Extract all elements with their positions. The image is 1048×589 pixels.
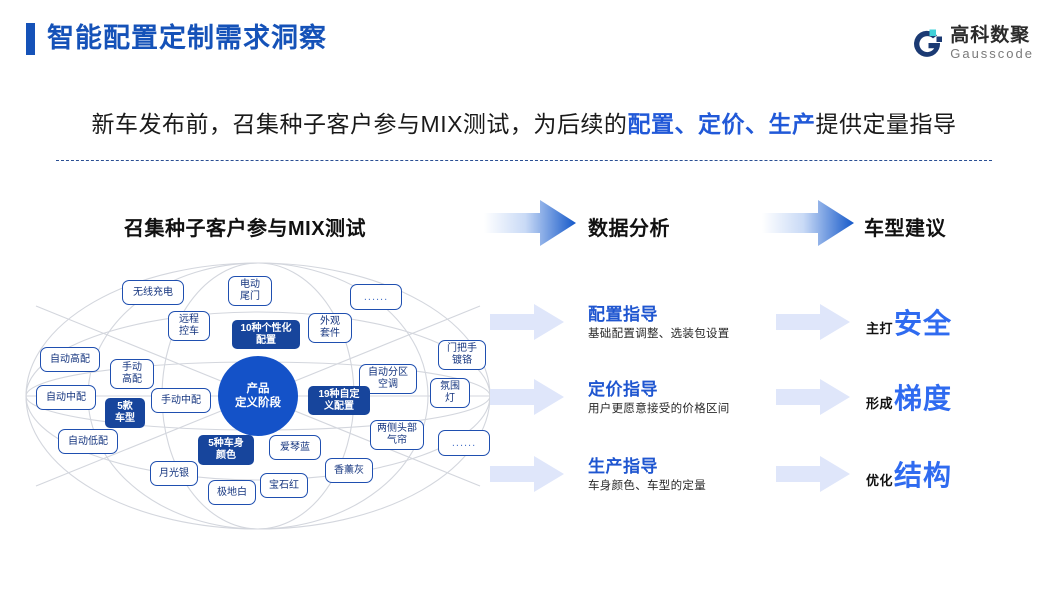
subtitle-highlight: 配置、定价、生产 <box>627 111 815 137</box>
diagram-node: ...... <box>350 284 402 310</box>
diagram-node: 自动中配 <box>36 385 96 410</box>
column-header-middle: 数据分析 <box>588 212 670 241</box>
row-arrow-left-2 <box>490 379 564 415</box>
diagram-node: 10种个性化 配置 <box>232 320 300 349</box>
outcome-result-prefix: 主打 <box>866 318 893 337</box>
diagram-node: 5种车身 颜色 <box>198 435 254 465</box>
column-header-left: 召集种子客户参与MIX测试 <box>124 212 366 241</box>
diagram-node: 外观 套件 <box>308 313 352 343</box>
outcome-title: 配置指导 <box>588 300 658 325</box>
diagram-node: ...... <box>438 430 490 456</box>
row-arrow-right-2 <box>776 379 850 415</box>
outcome-result-prefix: 形成 <box>866 393 893 412</box>
outcome-title: 定价指导 <box>588 375 658 400</box>
diagram-node: 宝石红 <box>260 473 308 498</box>
diagram-node: 5款 车型 <box>105 398 145 428</box>
diagram-node: 手动 高配 <box>110 359 154 389</box>
outcome-result-keyword: 梯度 <box>894 377 952 417</box>
section-divider <box>56 160 992 161</box>
diagram-center-node: 产品 定义阶段 <box>218 356 298 436</box>
diagram-node: 极地白 <box>208 480 256 505</box>
diagram-node: 香薰灰 <box>325 458 373 483</box>
outcome-result: 形成梯度 <box>866 377 952 417</box>
outcome-result: 优化结构 <box>866 454 952 494</box>
product-definition-diagram: 产品 定义阶段 无线充电电动 尾门......远程 控车10种个性化 配置外观 … <box>18 258 498 533</box>
row-arrow-left-1 <box>490 304 564 340</box>
subtitle-post: 提供定量指导 <box>815 111 956 137</box>
outcome-subtitle: 车身颜色、车型的定量 <box>588 477 706 493</box>
outcome-result-prefix: 优化 <box>866 470 893 489</box>
diagram-node: 氛围 灯 <box>430 378 470 408</box>
diagram-node: 爱琴蓝 <box>269 435 321 460</box>
title-accent-bar <box>26 23 35 55</box>
slide-subtitle: 新车发布前，召集种子客户参与MIX测试，为后续的配置、定价、生产提供定量指导 <box>0 108 1048 140</box>
column-header-right: 车型建议 <box>864 212 946 241</box>
header-arrow-1 <box>484 200 576 246</box>
diagram-node: 两侧头部 气帘 <box>370 420 424 450</box>
subtitle-pre: 新车发布前，召集种子客户参与MIX测试，为后续的 <box>92 111 628 137</box>
diagram-node: 远程 控车 <box>168 311 210 341</box>
gausscode-logo-icon <box>910 26 944 60</box>
logo-company-cn: 高科数聚 <box>950 25 1034 46</box>
diagram-node: 自动低配 <box>58 429 118 454</box>
outcome-title: 生产指导 <box>588 452 658 477</box>
header-arrow-2 <box>762 200 854 246</box>
row-arrow-right-1 <box>776 304 850 340</box>
company-logo: 高科数聚 Gausscode <box>910 22 1034 64</box>
outcome-subtitle: 基础配置调整、选装包设置 <box>588 325 730 341</box>
outcome-result: 主打安全 <box>866 302 952 342</box>
logo-company-en: Gausscode <box>950 46 1034 61</box>
row-arrow-right-3 <box>776 456 850 492</box>
diagram-node: 自动高配 <box>40 347 100 372</box>
outcome-result-keyword: 结构 <box>894 454 952 494</box>
diagram-node: 电动 尾门 <box>228 276 272 306</box>
page-title: 智能配置定制需求洞察 <box>47 21 327 55</box>
outcome-subtitle: 用户更愿意接受的价格区间 <box>588 400 730 416</box>
diagram-node: 月光银 <box>150 461 198 486</box>
slide: 智能配置定制需求洞察 高科数聚 Gausscode 新车发布前，召集种子客户参与… <box>0 0 1048 589</box>
diagram-node: 门把手 镀铬 <box>438 340 486 370</box>
diagram-node: 手动中配 <box>151 388 211 413</box>
diagram-node: 19种自定 义配置 <box>308 386 370 415</box>
slide-header: 智能配置定制需求洞察 高科数聚 Gausscode <box>0 0 1048 80</box>
row-arrow-left-3 <box>490 456 564 492</box>
outcome-result-keyword: 安全 <box>894 302 952 342</box>
diagram-node: 无线充电 <box>122 280 184 305</box>
